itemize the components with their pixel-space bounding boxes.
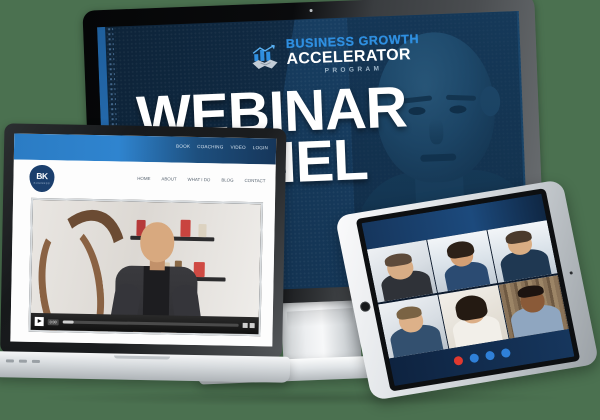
- laptop-base: [0, 351, 290, 383]
- video-right-controls[interactable]: [243, 323, 255, 328]
- tablet-frame: [335, 179, 600, 400]
- phone-hangup-icon[interactable]: [453, 356, 464, 366]
- nav-item-about[interactable]: ABOUT: [161, 176, 176, 181]
- video-progress-track[interactable]: [63, 320, 239, 326]
- volume-icon[interactable]: [243, 323, 248, 328]
- program-logo: BUSINESS GROWTH ACCELERATOR PROGRAM: [250, 33, 421, 77]
- participant-tile[interactable]: [427, 230, 497, 293]
- nav-item-contact[interactable]: CONTACT: [244, 178, 265, 183]
- tablet-bezel: [356, 188, 581, 392]
- tablet-camera-icon: [569, 271, 573, 274]
- home-button-icon[interactable]: [359, 301, 371, 312]
- chart-handshake-icon: [250, 44, 281, 71]
- participant-tile[interactable]: [488, 220, 558, 283]
- play-button-icon[interactable]: [35, 317, 44, 326]
- utility-nav-item[interactable]: LOGIN: [253, 145, 268, 150]
- site-body: BK BUSINESS HOME ABOUT WHAT I DO BLOG CO…: [10, 159, 275, 346]
- video-time-label: 0:00: [48, 319, 59, 325]
- nav-item-blog[interactable]: BLOG: [221, 177, 233, 182]
- video-control-bar[interactable]: 0:00: [31, 313, 259, 334]
- nav-item-home[interactable]: HOME: [137, 176, 150, 181]
- laptop: BOOK COACHING VIDEO LOGIN BK BUSINESS HO…: [0, 123, 294, 387]
- floor-shadow: [40, 390, 560, 406]
- webcam-icon: [309, 9, 312, 12]
- port-icon: [32, 360, 40, 363]
- site-main-nav[interactable]: HOME ABOUT WHAT I DO BLOG CONTACT: [137, 176, 265, 183]
- participant-tile[interactable]: [499, 275, 569, 338]
- share-screen-icon[interactable]: [500, 348, 511, 358]
- port-icon: [19, 360, 27, 363]
- laptop-lid: BOOK COACHING VIDEO LOGIN BK BUSINESS HO…: [0, 123, 286, 358]
- participant-tile[interactable]: [438, 285, 508, 348]
- fullscreen-icon[interactable]: [250, 323, 255, 328]
- laptop-screen: BOOK COACHING VIDEO LOGIN BK BUSINESS HO…: [10, 133, 276, 346]
- nav-item-what-i-do[interactable]: WHAT I DO: [188, 177, 211, 182]
- participant-tile[interactable]: [378, 295, 448, 358]
- tablet: [335, 179, 600, 400]
- site-logo-badge[interactable]: BK BUSINESS: [29, 165, 55, 192]
- presenter-head: [140, 222, 175, 263]
- video-player[interactable]: 0:00: [29, 198, 264, 336]
- badge-subtitle: BUSINESS: [34, 182, 50, 185]
- laptop-notch: [114, 355, 170, 359]
- utility-nav-item[interactable]: COACHING: [197, 144, 223, 150]
- site-utility-nav[interactable]: BOOK COACHING VIDEO LOGIN: [176, 144, 268, 151]
- product-mockup-scene: BUSINESS GROWTH ACCELERATOR PROGRAM WEBI…: [0, 0, 600, 420]
- badge-initials: BK: [36, 172, 47, 181]
- laptop-ports: [6, 359, 40, 363]
- camera-icon[interactable]: [484, 351, 495, 361]
- tablet-screen: [362, 194, 575, 386]
- utility-nav-item[interactable]: VIDEO: [230, 145, 245, 150]
- port-icon: [6, 359, 14, 362]
- participant-tile[interactable]: [367, 240, 437, 303]
- microphone-icon[interactable]: [468, 354, 479, 364]
- utility-nav-item[interactable]: BOOK: [176, 144, 190, 149]
